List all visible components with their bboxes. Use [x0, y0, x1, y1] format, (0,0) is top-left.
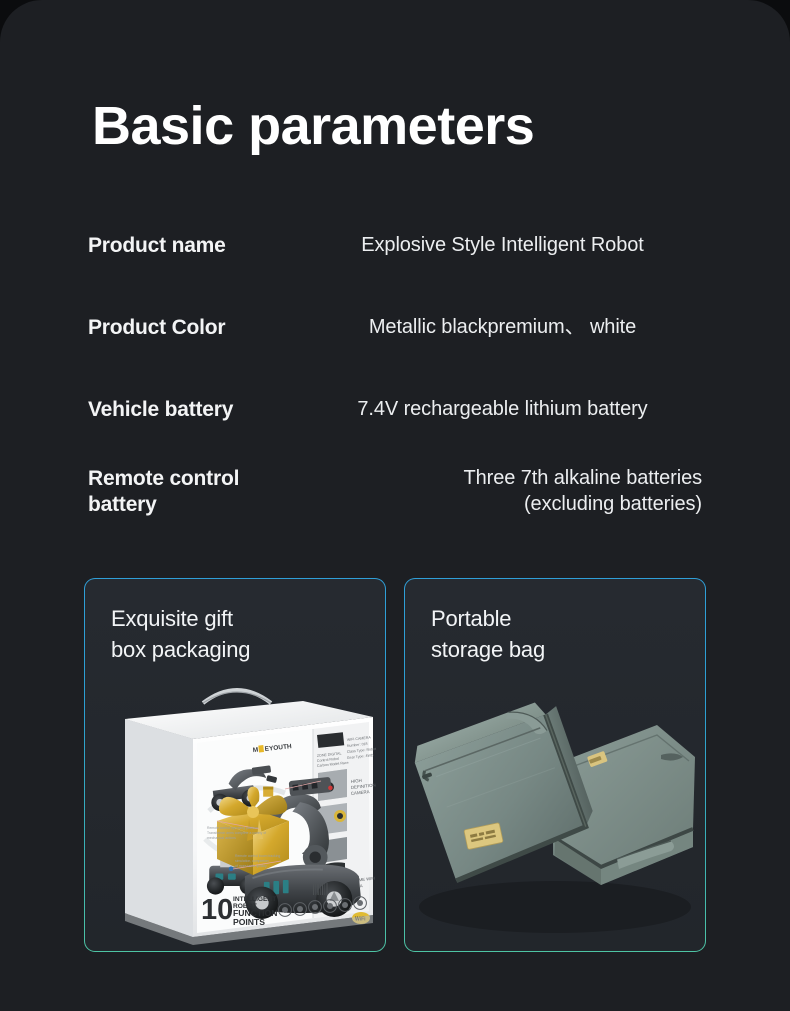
- table-row: Product Color Metallic blackpremium、 whi…: [88, 300, 702, 356]
- card-title-line-1: Portable: [431, 606, 511, 631]
- spec-label-remote-control-battery: Remote control battery: [88, 466, 303, 518]
- svg-text:INTELLIGENT: INTELLIGENT: [233, 896, 276, 903]
- feature-cards: Exquisite gift box packaging: [84, 578, 706, 952]
- card-title-line-2: storage bag: [431, 634, 545, 665]
- table-row: Vehicle battery 7.4V rechargeable lithiu…: [88, 382, 702, 438]
- spec-value-product-name: Explosive Style Intelligent Robot: [303, 233, 702, 259]
- spec-value-remote-control-battery: Three 7th alkaline batteries (excluding …: [303, 466, 702, 517]
- svg-text:10: 10: [201, 894, 233, 926]
- specifications-table: Product name Explosive Style Intelligent…: [88, 218, 702, 520]
- spec-value-vehicle-battery: 7.4V rechargeable lithium battery: [303, 397, 702, 423]
- spec-label-product-name: Product name: [88, 233, 303, 259]
- spec-value-line-2: (excluding batteries): [303, 492, 702, 518]
- table-row: Product name Explosive Style Intelligent…: [88, 218, 702, 274]
- card-gift-box-packaging[interactable]: Exquisite gift box packaging: [84, 578, 386, 952]
- card-title-gift-box: Exquisite gift box packaging: [111, 603, 250, 665]
- spec-value-product-color: Metallic blackpremium、 white: [303, 315, 702, 341]
- product-spec-page: Basic parameters Product name Explosive …: [0, 0, 790, 1011]
- spec-label-product-color: Product Color: [88, 315, 303, 341]
- svg-text:POINTS: POINTS: [233, 917, 265, 927]
- spec-label-vehicle-battery: Vehicle battery: [88, 397, 303, 423]
- card-title-line-1: Exquisite gift: [111, 606, 233, 631]
- card-title-storage-bag: Portable storage bag: [431, 603, 545, 665]
- table-row: Remote control battery Three 7th alkalin…: [88, 464, 702, 520]
- gift-box-packaging-photo: ZONE DIGITAL Control Robot Carbon Model …: [85, 661, 385, 951]
- svg-text:Transformer arms complete a va: Transformer arms complete a variety of: [207, 831, 266, 835]
- card-portable-storage-bag[interactable]: Portable storage bag: [404, 578, 706, 952]
- svg-text:Remote control operating platf: Remote control operating platform: [207, 826, 258, 830]
- svg-text:of more tasks quickly: of more tasks quickly: [235, 864, 267, 868]
- storage-bag-photo: [405, 661, 705, 951]
- card-title-line-2: box packaging: [111, 634, 250, 665]
- spec-value-line-1: Three 7th alkaline batteries: [464, 467, 702, 489]
- svg-text:mechanical actions: mechanical actions: [207, 836, 236, 840]
- svg-text:M: M: [252, 747, 258, 755]
- page-title: Basic parameters: [92, 98, 534, 155]
- svg-text:Remote control boom tracking: Remote control boom tracking: [235, 854, 280, 858]
- svg-text:simulation, completion: simulation, completion: [235, 859, 269, 863]
